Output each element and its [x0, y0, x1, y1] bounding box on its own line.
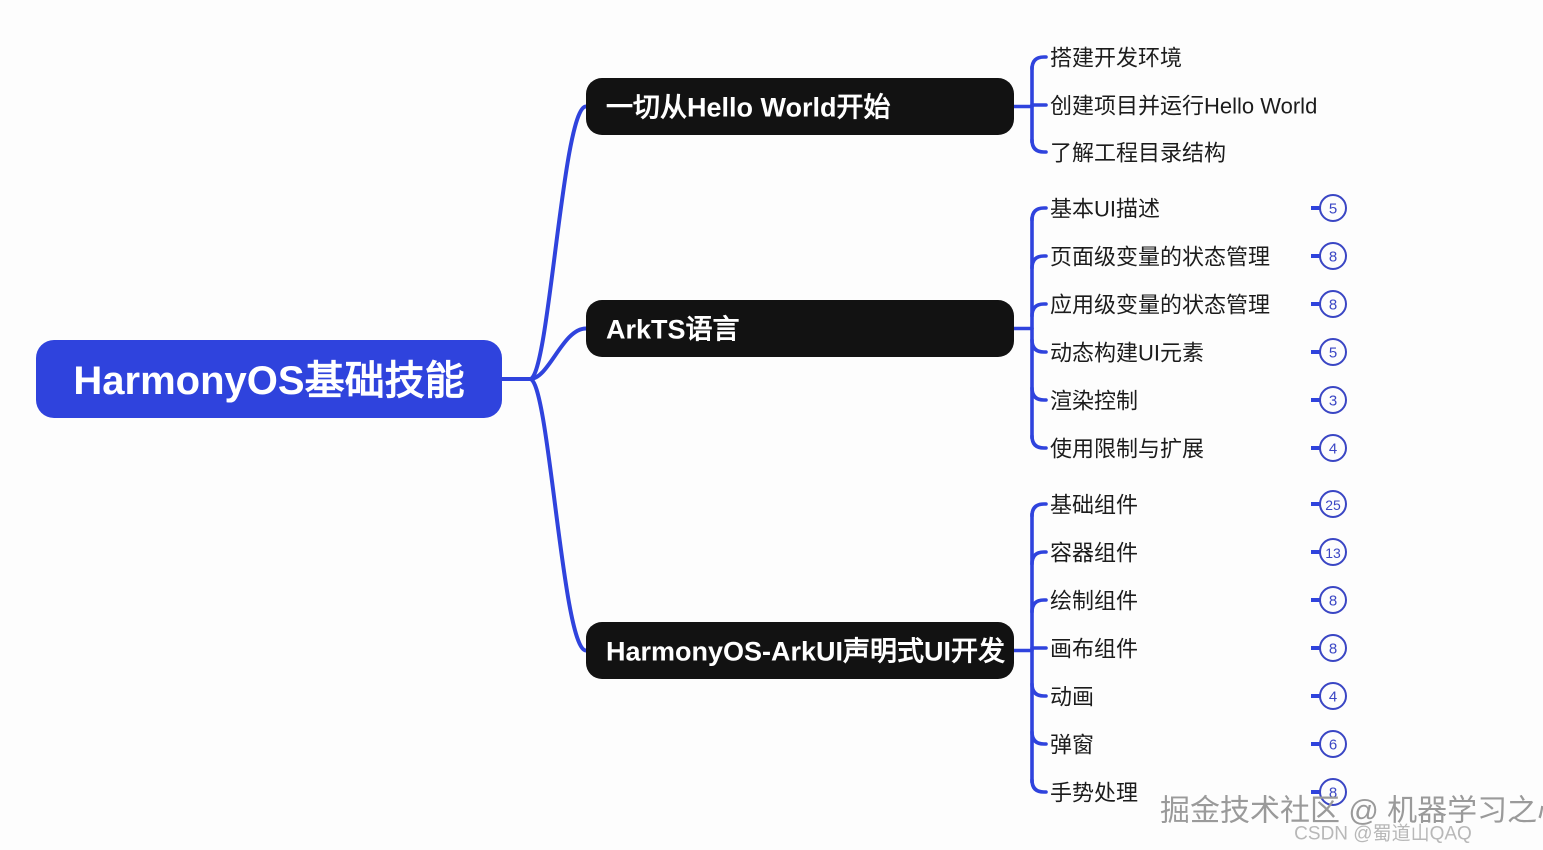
- leaf-count-badge[interactable]: 25: [1311, 491, 1346, 517]
- leaf-item[interactable]: 基础组件25: [1032, 491, 1346, 518]
- branch-node-label: ArkTS语言: [606, 315, 740, 345]
- badge-count: 8: [1329, 249, 1337, 266]
- leaf-connector: [1032, 684, 1046, 696]
- branch-node-label: HarmonyOS-ArkUI声明式UI开发: [606, 636, 1005, 667]
- badge-count: 4: [1329, 689, 1337, 706]
- leaf-count-badge[interactable]: 8: [1311, 291, 1346, 317]
- leaf-connector: [1032, 140, 1046, 152]
- leaf-label: 使用限制与扩展: [1050, 437, 1204, 462]
- leaf-label: 渲染控制: [1050, 389, 1138, 414]
- leaf-connector: [1032, 504, 1046, 516]
- branch-connector-1: [530, 107, 586, 380]
- mindmap-canvas: 一切从Hello World开始ArkTS语言HarmonyOS-ArkUI声明…: [0, 0, 1543, 850]
- leaf-count-badge[interactable]: 5: [1311, 195, 1346, 221]
- leaf-items: 搭建开发环境创建项目并运行Hello World了解工程目录结构基本UI描述5页…: [1032, 46, 1346, 806]
- leaf-connector: [1032, 780, 1046, 792]
- badge-count: 6: [1329, 737, 1337, 754]
- leaf-label: 创建项目并运行Hello World: [1050, 94, 1317, 119]
- leaf-item[interactable]: 搭建开发环境: [1032, 46, 1182, 71]
- leaf-item[interactable]: 画布组件8: [1032, 635, 1346, 662]
- leaf-item[interactable]: 基本UI描述5: [1032, 195, 1346, 222]
- leaf-connector: [1032, 436, 1046, 448]
- leaf-label: 了解工程目录结构: [1050, 141, 1226, 166]
- leaf-item[interactable]: 绘制组件8: [1032, 587, 1346, 614]
- leaf-count-badge[interactable]: 8: [1311, 587, 1346, 613]
- root-node-label: HarmonyOS基础技能: [73, 359, 464, 403]
- leaf-item[interactable]: 使用限制与扩展4: [1032, 435, 1346, 462]
- branch-connector-3: [530, 379, 586, 651]
- badge-count: 4: [1329, 441, 1337, 458]
- leaf-label: 手势处理: [1050, 781, 1138, 806]
- leaf-label: 页面级变量的状态管理: [1050, 245, 1270, 270]
- leaf-item[interactable]: 动态构建UI元素5: [1032, 339, 1346, 366]
- leaf-label: 弹窗: [1050, 733, 1094, 758]
- leaf-label: 基础组件: [1050, 493, 1138, 518]
- leaf-item[interactable]: 弹窗6: [1032, 731, 1346, 758]
- badge-count: 8: [1329, 297, 1337, 314]
- leaf-label: 容器组件: [1050, 541, 1138, 566]
- leaf-item[interactable]: 页面级变量的状态管理8: [1032, 243, 1346, 270]
- watermarks: 掘金技术社区 @ 机器学习之心AI CSDN @蜀道山QAQ: [1160, 795, 1543, 845]
- branch-node-2[interactable]: ArkTS语言: [586, 300, 1014, 357]
- leaf-connector: [1032, 57, 1046, 69]
- branch-node-1[interactable]: 一切从Hello World开始: [586, 78, 1014, 135]
- leaf-count-badge[interactable]: 8: [1311, 243, 1346, 269]
- leaf-label: 动态构建UI元素: [1050, 341, 1204, 366]
- leaf-connector: [1032, 340, 1046, 352]
- branch-node-label: 一切从Hello World开始: [606, 92, 891, 123]
- leaf-connector: [1032, 208, 1046, 220]
- leaf-count-badge[interactable]: 8: [1311, 635, 1346, 661]
- leaf-connector: [1032, 732, 1046, 744]
- leaf-connector: [1032, 552, 1046, 564]
- leaf-count-badge[interactable]: 4: [1311, 683, 1346, 709]
- badge-count: 25: [1325, 497, 1341, 513]
- badge-count: 8: [1329, 641, 1337, 658]
- leaf-label: 绘制组件: [1050, 589, 1138, 614]
- leaf-count-badge[interactable]: 3: [1311, 387, 1346, 413]
- leaf-item[interactable]: 创建项目并运行Hello World: [1032, 94, 1317, 119]
- leaf-item[interactable]: 应用级变量的状态管理8: [1032, 291, 1346, 318]
- leaf-item[interactable]: 容器组件13: [1032, 539, 1346, 566]
- badge-count: 5: [1329, 201, 1337, 218]
- leaf-connector: [1032, 388, 1046, 400]
- root-node[interactable]: HarmonyOS基础技能: [36, 340, 502, 418]
- watermark-secondary: CSDN @蜀道山QAQ: [1294, 823, 1472, 845]
- leaf-label: 应用级变量的状态管理: [1050, 293, 1270, 318]
- leaf-label: 动画: [1050, 685, 1094, 710]
- leaf-connector: [1032, 256, 1046, 268]
- badge-count: 8: [1329, 593, 1337, 610]
- leaf-label: 搭建开发环境: [1050, 46, 1182, 71]
- leaf-count-badge[interactable]: 4: [1311, 435, 1346, 461]
- leaf-connector: [1032, 600, 1046, 612]
- leaf-item[interactable]: 渲染控制3: [1032, 387, 1346, 414]
- leaf-item[interactable]: 了解工程目录结构: [1032, 140, 1226, 166]
- badge-count: 5: [1329, 345, 1337, 362]
- leaf-count-badge[interactable]: 5: [1311, 339, 1346, 365]
- leaf-label: 画布组件: [1050, 637, 1138, 662]
- branch-node-3[interactable]: HarmonyOS-ArkUI声明式UI开发: [586, 622, 1014, 679]
- leaf-count-badge[interactable]: 6: [1311, 731, 1346, 757]
- leaf-connector: [1032, 304, 1046, 316]
- leaf-spines: [1014, 67, 1032, 782]
- badge-count: 3: [1329, 393, 1337, 410]
- leaf-item[interactable]: 动画4: [1032, 683, 1346, 710]
- connector-links: [502, 107, 586, 651]
- badge-count: 13: [1325, 545, 1341, 561]
- leaf-label: 基本UI描述: [1050, 197, 1160, 222]
- leaf-count-badge[interactable]: 13: [1311, 539, 1346, 565]
